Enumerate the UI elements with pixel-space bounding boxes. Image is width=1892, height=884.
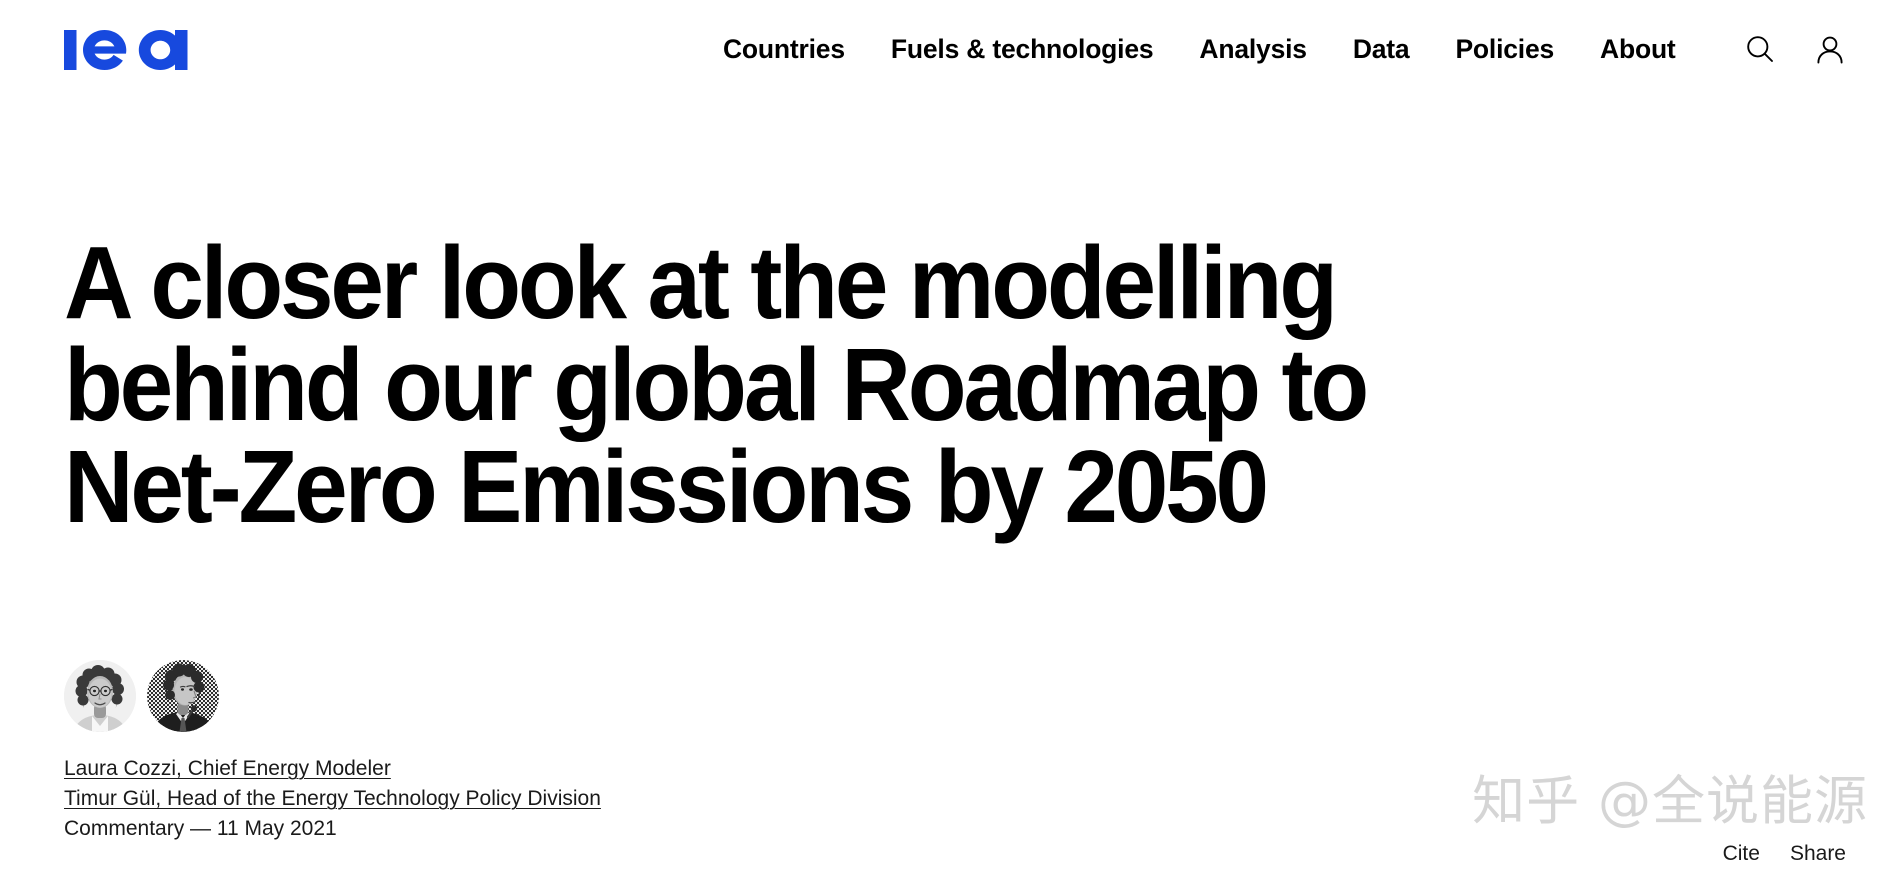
author-link-laura-cozzi[interactable]: Laura Cozzi, Chief Energy Modeler <box>64 754 391 784</box>
search-icon[interactable] <box>1744 33 1776 65</box>
main-navigation: Countries Fuels & technologies Analysis … <box>700 0 1699 98</box>
iea-logo-icon <box>62 22 190 78</box>
header-icon-group <box>1744 0 1846 98</box>
author-block: Laura Cozzi, Chief Energy Modeler Timur … <box>64 660 601 844</box>
author-avatars <box>64 660 601 732</box>
user-account-icon[interactable] <box>1814 33 1846 65</box>
avatar-timur-gul[interactable] <box>147 660 219 732</box>
avatar-laura-cozzi[interactable] <box>64 660 136 732</box>
author-link-timur-gul[interactable]: Timur Gül, Head of the Energy Technology… <box>64 784 601 814</box>
share-button[interactable]: Share <box>1790 842 1846 866</box>
nav-item-countries[interactable]: Countries <box>700 36 868 63</box>
byline-row-2: Timur Gül, Head of the Energy Technology… <box>64 784 601 814</box>
article-actions: Cite Share <box>1723 842 1846 866</box>
nav-item-analysis[interactable]: Analysis <box>1176 36 1329 63</box>
cite-button[interactable]: Cite <box>1723 842 1760 866</box>
byline-row-1: Laura Cozzi, Chief Energy Modeler <box>64 754 601 784</box>
avatar-image-1 <box>64 660 136 732</box>
byline: Laura Cozzi, Chief Energy Modeler Timur … <box>64 754 601 844</box>
nav-item-about[interactable]: About <box>1577 36 1699 63</box>
nav-item-fuels-technologies[interactable]: Fuels & technologies <box>868 36 1177 63</box>
page-title: A closer look at the modelling behind ou… <box>64 232 1392 538</box>
zhihu-watermark: 知乎 @全说能源 <box>1472 775 1868 828</box>
site-header: Countries Fuels & technologies Analysis … <box>0 0 1892 98</box>
nav-item-policies[interactable]: Policies <box>1432 36 1577 63</box>
article-meta: Commentary — 11 May 2021 <box>64 814 601 844</box>
avatar-image-2 <box>147 660 219 732</box>
page-root: Countries Fuels & technologies Analysis … <box>0 0 1892 884</box>
iea-logo[interactable] <box>62 22 190 78</box>
nav-item-data[interactable]: Data <box>1330 36 1433 63</box>
